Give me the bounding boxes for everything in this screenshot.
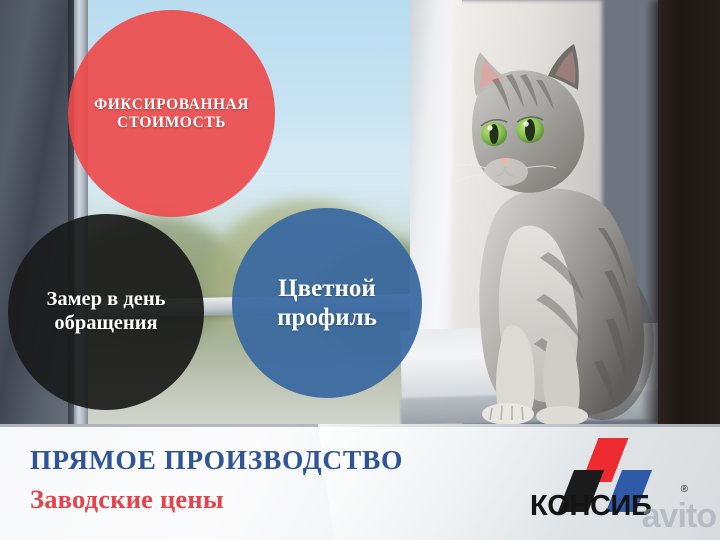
banner-headline: ПРЯМОЕ ПРОИЗВОДСТВО: [30, 446, 403, 474]
photo-background: ФИКСИРОВАННАЯ СТОИМОСТЬ Замер в день обр…: [0, 0, 720, 424]
bubble-line-2: профиль: [271, 303, 383, 332]
feature-bubble-same-day-measurement: Замер в день обращения: [8, 214, 204, 410]
registered-trademark-icon: ®: [681, 484, 688, 495]
konsib-logo: КОНСИБ ®: [536, 440, 686, 526]
bubble-line-2: СТОИМОСТЬ: [88, 114, 255, 132]
dark-wall-strip: [658, 0, 720, 424]
advertisement-banner: ФИКСИРОВАННАЯ СТОИМОСТЬ Замер в день обр…: [0, 0, 720, 540]
bubble-line-1: Замер в день: [41, 288, 172, 312]
bubble-line-1: Цветной: [271, 274, 383, 303]
bubble-line-2: обращения: [41, 312, 172, 336]
logo-wordmark: КОНСИБ: [530, 490, 686, 523]
banner-text-block: ПРЯМОЕ ПРОИЗВОДСТВО Заводские цены: [30, 446, 403, 512]
cat-photo: [452, 42, 666, 424]
bubble-line-1: ФИКСИРОВАННАЯ: [88, 96, 255, 114]
feature-bubble-color-profile: Цветной профиль: [232, 208, 422, 398]
bottom-banner: ПРЯМОЕ ПРОИЗВОДСТВО Заводские цены КОНСИ…: [0, 424, 720, 540]
logo-mark-icon: [536, 440, 686, 488]
feature-bubble-fixed-price: ФИКСИРОВАННАЯ СТОИМОСТЬ: [68, 10, 275, 217]
banner-subheadline: Заводские цены: [30, 486, 403, 513]
